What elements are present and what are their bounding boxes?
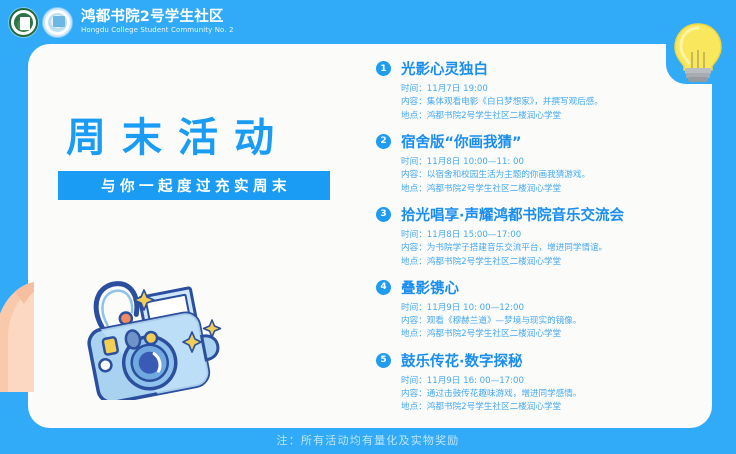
activity-content: 内容：为书院学子搭建音乐交流平台，增进同学情谊。 bbox=[401, 242, 696, 255]
activity-time: 时间：11月8日 15:00—17:00 bbox=[401, 229, 696, 242]
poster-canvas: 鸿都书院2号学生社区 Hongdu College Student Commun… bbox=[0, 0, 736, 454]
activity-content: 内容：观看《穆赫兰道》—梦境与现实的镜像。 bbox=[401, 315, 696, 328]
community-seal-blue-icon bbox=[43, 8, 72, 37]
header-subtitle: Hongdu College Student Community No. 2 bbox=[81, 27, 234, 34]
activity-place: 地点：鸿都书院2号学生社区二楼润心学堂 bbox=[401, 328, 696, 341]
activity-time: 时间：11月8日 10:00—11: 00 bbox=[401, 156, 696, 169]
activity-content: 内容：集体观看电影《白日梦想家》，并撰写观后感。 bbox=[401, 96, 696, 109]
activity-title: 叠影镌心 bbox=[401, 277, 459, 298]
header-text-group: 鸿都书院2号学生社区 Hongdu College Student Commun… bbox=[81, 10, 234, 35]
status-badge: 5 bbox=[376, 353, 391, 368]
activity-header: 1 光影心灵独白 bbox=[376, 58, 696, 79]
activity-title: 宿舍版“你画我猜” bbox=[401, 131, 522, 152]
activity-details: 时间：11月9日 16: 00—17:00 内容：通过击鼓传花趣味游戏，增进同学… bbox=[401, 375, 696, 415]
list-item[interactable]: 4 叠影镌心 时间：11月9日 10: 00—12:00 内容：观看《穆赫兰道》… bbox=[376, 277, 696, 342]
instant-camera-icon bbox=[72, 272, 252, 400]
activity-header: 4 叠影镌心 bbox=[376, 277, 696, 298]
activity-title: 拾光唱享·声耀鸿都书院音乐交流会 bbox=[401, 204, 624, 225]
activity-header: 3 拾光唱享·声耀鸿都书院音乐交流会 bbox=[376, 204, 696, 225]
activity-place: 地点：鸿都书院2号学生社区二楼润心学堂 bbox=[401, 256, 696, 269]
activity-header: 2 宿舍版“你画我猜” bbox=[376, 131, 696, 152]
activity-content: 内容：以宿舍和校园生活为主题的你画我猜游戏。 bbox=[401, 169, 696, 182]
activity-place: 地点：鸿都书院2号学生社区二楼润心学堂 bbox=[401, 110, 696, 123]
list-item[interactable]: 5 鼓乐传花·数字探秘 时间：11月9日 16: 00—17:00 内容：通过击… bbox=[376, 350, 696, 415]
activity-header: 5 鼓乐传花·数字探秘 bbox=[376, 350, 696, 371]
page-title: 周末活动 bbox=[58, 118, 358, 158]
activity-time: 时间：11月7日 19:00 bbox=[401, 83, 696, 96]
activity-time: 时间：11月9日 16: 00—17:00 bbox=[401, 375, 696, 388]
status-badge: 4 bbox=[376, 280, 391, 295]
status-badge: 3 bbox=[376, 207, 391, 222]
lightbulb-icon bbox=[670, 22, 726, 84]
status-badge: 1 bbox=[376, 61, 391, 76]
header-title: 鸿都书院2号学生社区 bbox=[81, 10, 234, 25]
activity-content: 内容：通过击鼓传花趣味游戏，增进同学感情。 bbox=[401, 388, 696, 401]
activity-time: 时间：11月9日 10: 00—12:00 bbox=[401, 302, 696, 315]
college-seal-green-icon bbox=[9, 8, 38, 37]
activity-place: 地点：鸿都书院2号学生社区二楼润心学堂 bbox=[401, 401, 696, 414]
hero-subtitle: 与你一起度过充实周末 bbox=[97, 175, 291, 196]
activity-list: 1 光影心灵独白 时间：11月7日 19:00 内容：集体观看电影《白日梦想家》… bbox=[376, 58, 696, 423]
activity-title: 鼓乐传花·数字探秘 bbox=[401, 350, 523, 371]
hero-subtitle-bar: 与你一起度过充实周末 bbox=[58, 171, 330, 200]
activity-details: 时间：11月9日 10: 00—12:00 内容：观看《穆赫兰道》—梦境与现实的… bbox=[401, 302, 696, 342]
activity-details: 时间：11月8日 10:00—11: 00 内容：以宿舍和校园生活为主题的你画我… bbox=[401, 156, 696, 196]
activity-details: 时间：11月8日 15:00—17:00 内容：为书院学子搭建音乐交流平台，增进… bbox=[401, 229, 696, 269]
poster-header: 鸿都书院2号学生社区 Hongdu College Student Commun… bbox=[0, 0, 736, 44]
list-item[interactable]: 2 宿舍版“你画我猜” 时间：11月8日 10:00—11: 00 内容：以宿舍… bbox=[376, 131, 696, 196]
hand-icon bbox=[0, 282, 34, 392]
hero-block: 周末活动 与你一起度过充实周末 bbox=[58, 118, 358, 200]
list-item[interactable]: 1 光影心灵独白 时间：11月7日 19:00 内容：集体观看电影《白日梦想家》… bbox=[376, 58, 696, 123]
list-item[interactable]: 3 拾光唱享·声耀鸿都书院音乐交流会 时间：11月8日 15:00—17:00 … bbox=[376, 204, 696, 269]
activity-title: 光影心灵独白 bbox=[401, 58, 488, 79]
activity-place: 地点：鸿都书院2号学生社区二楼润心学堂 bbox=[401, 183, 696, 196]
status-badge: 2 bbox=[376, 134, 391, 149]
footer-note: 注：所有活动均有量化及实物奖励 bbox=[0, 432, 736, 448]
activity-details: 时间：11月7日 19:00 内容：集体观看电影《白日梦想家》，并撰写观后感。 … bbox=[401, 83, 696, 123]
